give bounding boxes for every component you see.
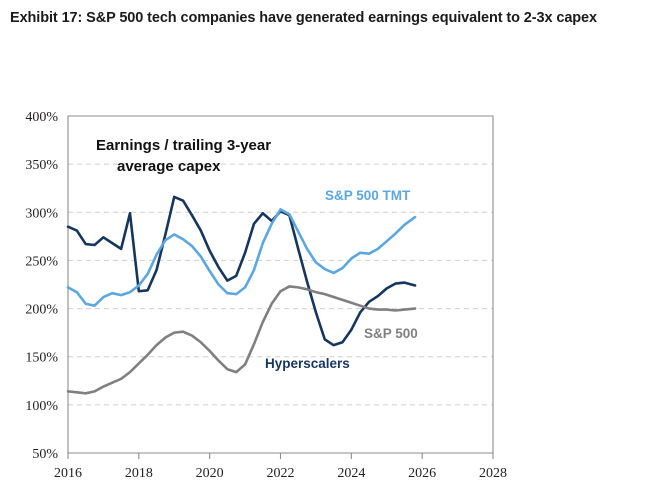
exhibit-title: Exhibit 17: S&P 500 tech companies have … [10, 8, 635, 29]
x-tick-label: 2022 [267, 466, 295, 481]
y-tick-label: 200% [25, 303, 58, 318]
x-axis-tick-marks [68, 453, 493, 459]
plot-note-line2: average capex [117, 158, 221, 175]
series-label-sp500-tmt: S&P 500 TMT [325, 188, 411, 203]
y-tick-label: 400% [25, 110, 58, 125]
x-tick-label: 2024 [337, 466, 365, 481]
y-tick-label: 300% [25, 206, 58, 221]
y-tick-label: 150% [25, 351, 58, 366]
x-tick-label: 2016 [54, 466, 82, 481]
series-lines-group [68, 197, 415, 393]
y-tick-label: 100% [25, 399, 58, 414]
x-axis-tick-labels: 2016201820202022202420262028 [54, 466, 507, 481]
x-tick-label: 2020 [196, 466, 224, 481]
x-tick-label: 2018 [125, 466, 153, 481]
plot-area-wrapper: 50%100%150%200%250%300%350%400% 20162018… [0, 100, 645, 496]
figure-container: Exhibit 17: S&P 500 tech companies have … [0, 0, 645, 496]
x-tick-label: 2026 [408, 466, 436, 481]
y-tick-label: 350% [25, 158, 58, 173]
series-label-sp500: S&P 500 [364, 326, 418, 341]
line-chart: 50%100%150%200%250%300%350%400% 20162018… [0, 100, 645, 496]
series-label-hyperscalers: Hyperscalers [265, 356, 350, 371]
y-tick-label: 50% [32, 447, 58, 462]
y-tick-label: 250% [25, 254, 58, 269]
series-line-hyperscalers [68, 197, 415, 345]
series-line-s-p-500-tmt [68, 209, 415, 305]
x-tick-label: 2028 [479, 466, 507, 481]
plot-note-line1: Earnings / trailing 3-year [96, 137, 271, 154]
y-axis-tick-labels: 50%100%150%200%250%300%350%400% [25, 110, 58, 462]
